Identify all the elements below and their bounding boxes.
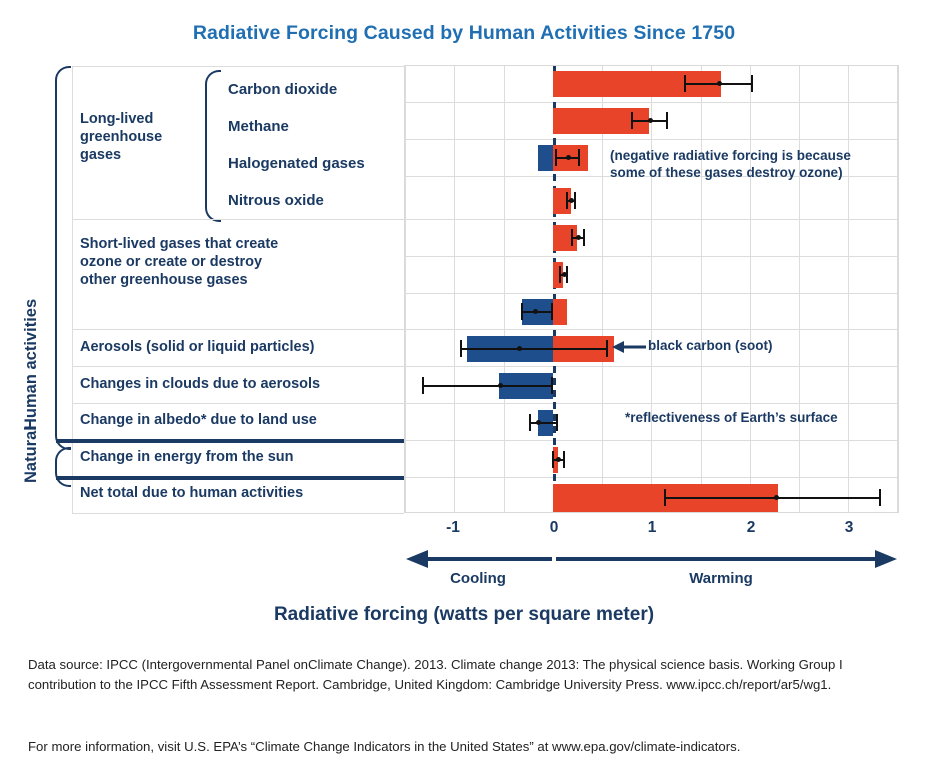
- gridline-h-9: [405, 403, 898, 404]
- table-sep-long-lived: [72, 219, 404, 220]
- gridline-v-1.0: [651, 66, 652, 512]
- errorbar-aerosols: [460, 348, 608, 350]
- gridline-v-2.0: [750, 66, 751, 512]
- gridline-v-3.5: [897, 66, 898, 512]
- annotation-halogenated-note: (negative radiative forcing is because s…: [610, 148, 851, 182]
- annotation-black-carbon: black carbon (soot): [648, 338, 773, 355]
- row-label-solar: Change in energy from the sun: [80, 448, 294, 466]
- errorbar-cap-high-methane: [666, 112, 668, 129]
- errorbar-cap-high-carbon-dioxide: [751, 75, 753, 92]
- gridline-h-7: [405, 329, 898, 330]
- axis-caption-warming: Warming: [556, 570, 886, 587]
- gridline-v--0.5: [504, 66, 505, 512]
- errorbar-cap-high-halogenated-gases: [578, 149, 580, 166]
- errorbar-cap-high-solar: [563, 451, 565, 468]
- row-label-net-total: Net total due to human activities: [80, 484, 303, 502]
- footer-source: Data source: IPCC (Intergovernmental Pan…: [28, 655, 908, 696]
- table-sep-clouds: [72, 403, 404, 404]
- errorbar-clouds: [422, 385, 553, 387]
- errorbar-cap-low-short-lived-2: [559, 266, 561, 283]
- row-label-albedo: Change in albedo* due to land use: [80, 411, 317, 429]
- table-bottom-border: [72, 513, 404, 514]
- gridline-v-1.5: [701, 66, 702, 512]
- xtick-2: 2: [731, 519, 771, 537]
- errorbar-cap-low-short-lived-1: [571, 229, 573, 246]
- bar-short-lived-3-positive: [553, 299, 567, 325]
- table-left-border: [72, 66, 73, 514]
- bracket-natural: [55, 447, 71, 487]
- errorbar-cap-low-solar: [552, 451, 554, 468]
- errorbar-albedo: [529, 422, 558, 424]
- errorbar-center-short-lived-3: [533, 309, 538, 314]
- footer-more-info: For more information, visit U.S. EPA’s “…: [28, 737, 908, 757]
- errorbar-cap-high-short-lived-1: [583, 229, 585, 246]
- gridline-h-2: [405, 139, 898, 140]
- axis-caption-cooling: Cooling: [404, 570, 552, 587]
- errorbar-center-albedo: [536, 420, 541, 425]
- table-top-border: [72, 66, 404, 67]
- axis-title: Radiative forcing (watts per square mete…: [0, 604, 928, 626]
- table-sep-short-lived: [72, 329, 404, 330]
- errorbar-cap-low-nitrous-oxide: [566, 192, 568, 209]
- row-label-long-lived-greenhouse-gases: Long-lived greenhouse gases: [80, 110, 162, 164]
- gridline-v--1.5: [405, 66, 406, 512]
- errorbar-center-methane: [648, 118, 653, 123]
- gridline-h-6: [405, 293, 898, 294]
- bar-halogenated-gases-negative: [538, 145, 553, 171]
- errorbar-net-total: [664, 497, 881, 499]
- black-carbon-arrow-icon: [612, 338, 648, 356]
- row-label-aerosols: Aerosols (solid or liquid particles): [80, 338, 314, 356]
- bracket-long-lived-gases: [205, 70, 221, 222]
- errorbar-cap-high-short-lived-3: [551, 303, 553, 320]
- errorbar-cap-high-clouds: [551, 377, 553, 394]
- errorbar-cap-high-net-total: [879, 489, 881, 506]
- axis-direction-arrows: [404, 548, 899, 570]
- errorbar-cap-low-clouds: [422, 377, 424, 394]
- plot-area: [404, 65, 899, 513]
- row-label-methane: Methane: [228, 118, 289, 135]
- bracket-human-activities: [55, 66, 71, 450]
- xtick-3: 3: [829, 519, 869, 537]
- table-sep-aerosols: [72, 366, 404, 367]
- errorbar-center-carbon-dioxide: [717, 81, 722, 86]
- errorbar-center-aerosols: [517, 346, 522, 351]
- errorbar-cap-low-halogenated-gases: [555, 149, 557, 166]
- page-title: Radiative Forcing Caused by Human Activi…: [0, 22, 928, 45]
- errorbar-cap-high-nitrous-oxide: [574, 192, 576, 209]
- errorbar-cap-high-aerosols: [606, 340, 608, 357]
- errorbar-cap-low-methane: [631, 112, 633, 129]
- gridline-v-3.0: [848, 66, 849, 512]
- gridline-h-10: [405, 440, 898, 441]
- row-label-clouds: Changes in clouds due to aerosols: [80, 375, 320, 393]
- row-label-carbon-dioxide: Carbon dioxide: [228, 81, 337, 98]
- row-label-halogenated-gases: Halogenated gases: [228, 155, 365, 172]
- errorbar-cap-low-carbon-dioxide: [684, 75, 686, 92]
- errorbar-center-short-lived-2: [562, 272, 567, 277]
- errorbar-center-halogenated-gases: [566, 155, 571, 160]
- errorbar-cap-low-albedo: [529, 414, 531, 431]
- group-label-natural: Natural: [22, 426, 41, 483]
- row-label-nitrous-oxide: Nitrous oxide: [228, 192, 324, 209]
- gridline-v--1.0: [454, 66, 455, 512]
- errorbar-cap-high-albedo: [556, 414, 558, 431]
- gridline-h-1: [405, 102, 898, 103]
- errorbar-center-net-total: [774, 495, 779, 500]
- row-label-short-lived-gases: Short-lived gases that create ozone or c…: [80, 235, 278, 289]
- errorbar-center-clouds: [498, 383, 503, 388]
- xtick--1: -1: [433, 519, 473, 537]
- gridline-h-11: [405, 477, 898, 478]
- xtick-0: 0: [534, 519, 574, 537]
- xtick-1: 1: [632, 519, 672, 537]
- errorbar-center-nitrous-oxide: [569, 198, 574, 203]
- errorbar-cap-low-net-total: [664, 489, 666, 506]
- errorbar-cap-low-short-lived-3: [521, 303, 523, 320]
- gridline-v-2.5: [799, 66, 800, 512]
- gridline-h-8: [405, 366, 898, 367]
- radiative-forcing-figure: Radiative Forcing Caused by Human Activi…: [0, 0, 928, 781]
- errorbar-center-short-lived-1: [576, 235, 581, 240]
- errorbar-center-solar: [556, 457, 561, 462]
- annotation-albedo-footnote: *reflectiveness of Earth’s surface: [625, 410, 838, 427]
- errorbar-cap-low-aerosols: [460, 340, 462, 357]
- group-label-human-activities: Human activities: [22, 299, 41, 430]
- gridline-h-5: [405, 256, 898, 257]
- gridline-h-4: [405, 219, 898, 220]
